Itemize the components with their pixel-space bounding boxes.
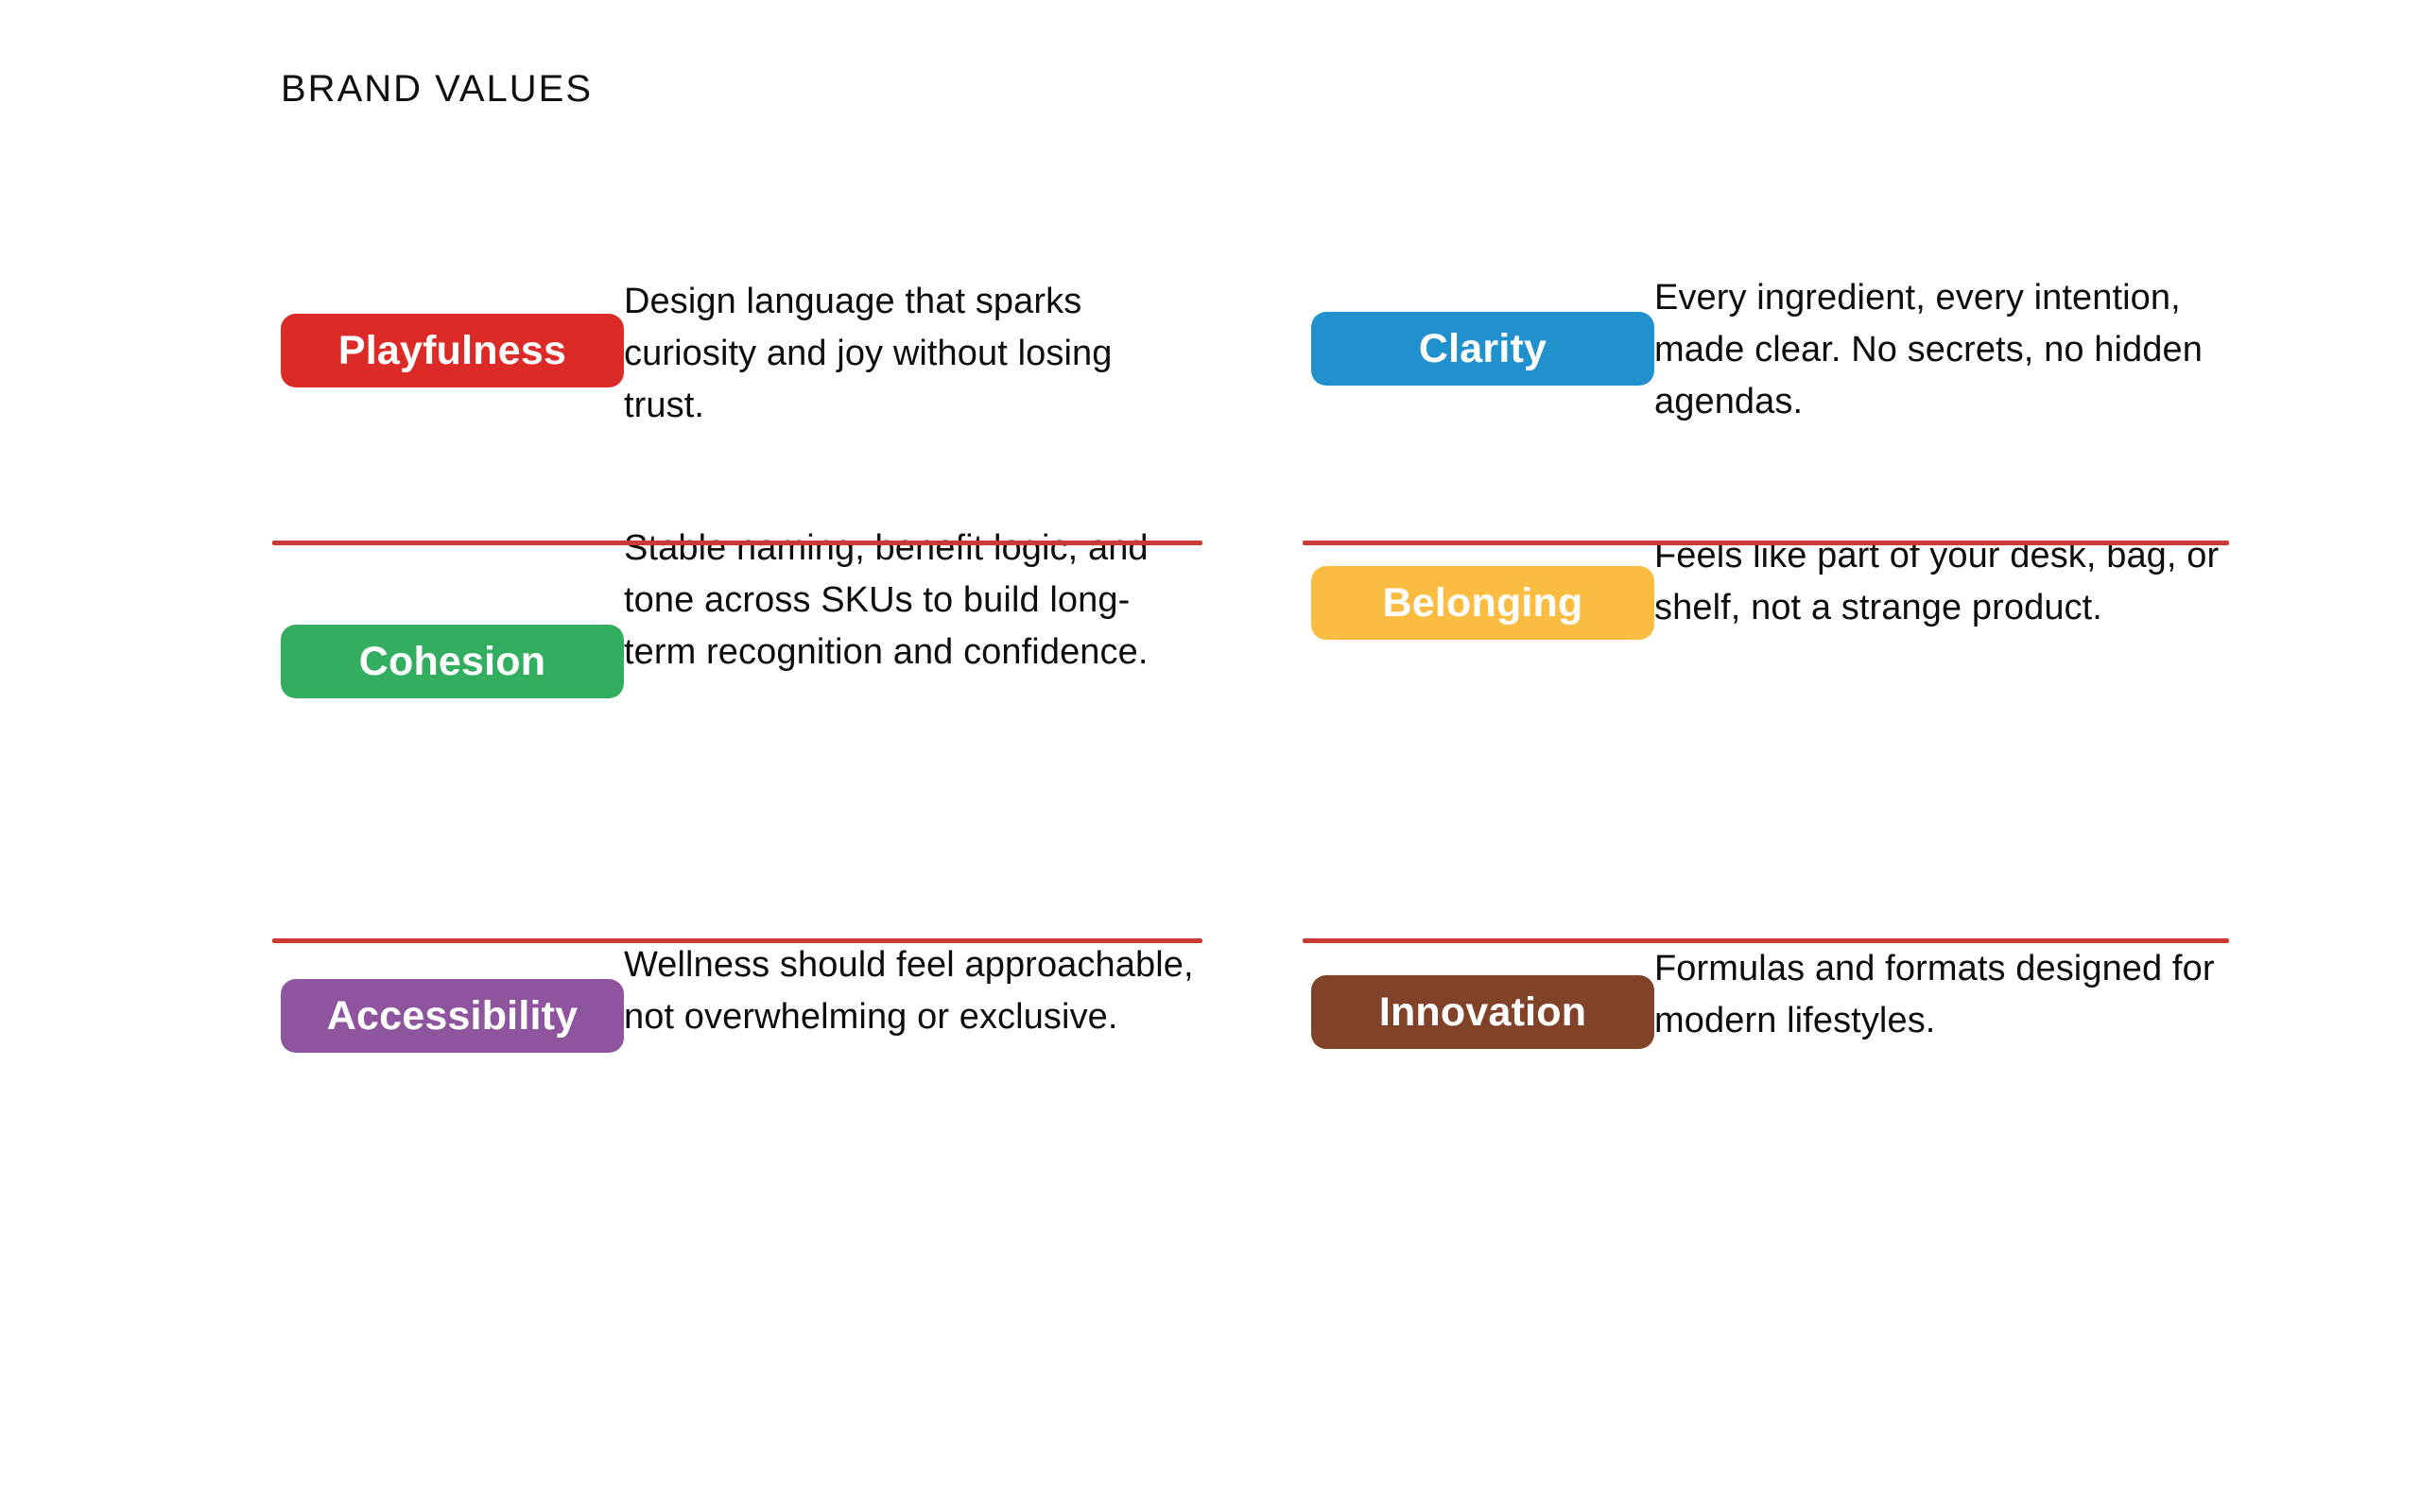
value-card-innovation: Innovation Formulas and formats designed… — [1311, 932, 2228, 1215]
value-card-belonging: Belonging Feels like part of your desk, … — [1311, 523, 2228, 932]
badge-container: Clarity — [1311, 312, 1654, 386]
value-description-innovation: Formulas and formats designed for modern… — [1654, 943, 2228, 1047]
value-badge-innovation[interactable]: Innovation — [1311, 975, 1654, 1049]
value-badge-playfulness[interactable]: Playfulness — [281, 314, 624, 387]
value-badge-clarity[interactable]: Clarity — [1311, 312, 1654, 386]
value-description-clarity: Every ingredient, every intention, made … — [1654, 272, 2228, 428]
badge-container: Cohesion — [281, 625, 624, 698]
row-divider-right-2 — [1303, 938, 2229, 943]
value-card-cohesion: Cohesion Stable naming, benefit logic, a… — [281, 523, 1311, 932]
value-card-accessibility: Accessibility Wellness should feel appro… — [281, 932, 1311, 1215]
value-description-playfulness: Design language that sparks curiosity an… — [624, 276, 1198, 432]
brand-values-slide: BRAND VALUES Playfulness Design language… — [0, 0, 2420, 1512]
value-badge-cohesion[interactable]: Cohesion — [281, 625, 624, 698]
values-grid: Playfulness Design language that sparks … — [281, 265, 2228, 1215]
value-card-playfulness: Playfulness Design language that sparks … — [281, 265, 1311, 523]
value-description-cohesion: Stable naming, benefit logic, and tone a… — [624, 523, 1198, 679]
value-card-clarity: Clarity Every ingredient, every intentio… — [1311, 265, 2228, 523]
badge-container: Innovation — [1311, 975, 1654, 1049]
value-description-belonging: Feels like part of your desk, bag, or sh… — [1654, 530, 2228, 634]
page-title: BRAND VALUES — [281, 68, 593, 110]
badge-container: Accessibility — [281, 979, 624, 1053]
value-description-accessibility: Wellness should feel approachable, not o… — [624, 939, 1198, 1043]
row-divider-left-2 — [272, 938, 1202, 943]
row-divider-right-1 — [1303, 541, 2229, 545]
row-divider-left-1 — [272, 541, 1202, 545]
badge-container: Belonging — [1311, 566, 1654, 640]
value-badge-accessibility[interactable]: Accessibility — [281, 979, 624, 1053]
badge-container: Playfulness — [281, 314, 624, 387]
value-badge-belonging[interactable]: Belonging — [1311, 566, 1654, 640]
